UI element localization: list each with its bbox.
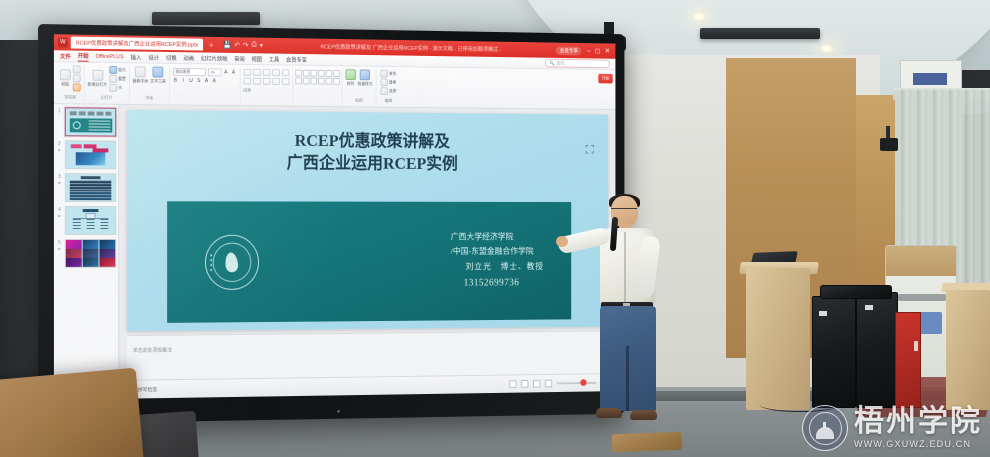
decrease-indent-icon[interactable]	[262, 69, 270, 76]
thumbnail-row[interactable]: 2■	[56, 140, 116, 169]
normal-view-icon[interactable]	[509, 380, 516, 388]
jeans-seam	[626, 346, 629, 411]
presenter-shoe	[596, 408, 622, 418]
select-button[interactable]: 选择	[381, 87, 397, 95]
new-tab-icon[interactable]: +	[206, 40, 216, 49]
shape-curve-icon[interactable]	[333, 70, 340, 77]
menu-item-animation[interactable]: 动画	[183, 54, 194, 62]
shape-freeform-icon[interactable]	[295, 77, 302, 84]
podium	[746, 268, 810, 410]
menu-item-tools[interactable]: 工具	[269, 55, 280, 63]
thumbnail-row[interactable]: 1	[56, 107, 116, 136]
font-size-input[interactable]: 18	[208, 68, 222, 76]
save-icon[interactable]: 💾	[223, 41, 231, 49]
spellcheck-indicator[interactable]: 拼写检查	[138, 386, 158, 393]
text-shadow-icon[interactable]: A	[204, 78, 210, 84]
align-center-icon[interactable]	[253, 78, 261, 85]
shape-banner-icon[interactable]	[318, 78, 325, 85]
format-painter-button[interactable]	[73, 83, 81, 91]
menu-item-member[interactable]: 会员专享	[286, 55, 307, 63]
seal-building-glyph	[816, 427, 834, 439]
slide-presenter-info: 广西大学经济学院 /中国-东盟金融合作学院 刘立光 博士、教授 13152699…	[451, 229, 544, 292]
menu-item-home[interactable]: 开始	[78, 51, 89, 61]
shape-arrow-icon[interactable]	[310, 70, 317, 77]
university-seal-icon: ★★★★	[205, 234, 259, 289]
slide-content-box[interactable]: ★★★★ 广西大学经济学院 /中国-东盟金融合作学院 刘立光 博士、教授	[167, 201, 571, 323]
numbering-icon[interactable]	[253, 69, 261, 76]
glasses-icon	[611, 208, 637, 212]
watermark-school-name: 梧州学院	[854, 407, 982, 437]
case-label	[865, 305, 873, 310]
presenter-name: 刘立光 博士、教授	[451, 259, 544, 274]
red-cabinet	[895, 312, 921, 408]
shape-triangle-icon[interactable]	[325, 70, 332, 77]
thumbnail-number: 1	[56, 107, 63, 114]
ac-top-panel	[886, 246, 956, 276]
ribbon-action-button[interactable]: 开始	[598, 74, 612, 84]
maximize-icon[interactable]: ◻	[595, 47, 600, 55]
quick-style-button[interactable]: 快速样式	[357, 69, 372, 87]
watermark-text: 梧州学院 WWW.GXUWZ.EDU.CN	[854, 407, 982, 449]
ribbon-group-fonttools: 替换字体 文字工具 字体	[130, 65, 170, 102]
print-icon[interactable]: ⎙	[251, 41, 256, 49]
document-tab[interactable]: RCEP优惠政策讲解及广西企业运用RCEP实例.pptx	[71, 37, 203, 51]
increase-font-icon[interactable]: A	[223, 70, 229, 76]
thumbnail-number: 3■	[56, 173, 63, 185]
slide-thumbnail-1[interactable]	[65, 107, 116, 136]
paste-button[interactable]: 粘贴	[60, 69, 71, 87]
font-color-icon[interactable]: A	[211, 78, 217, 84]
minimize-icon[interactable]: –	[587, 47, 591, 54]
current-slide[interactable]: RCEP优惠政策讲解及 广西企业运用RCEP实例 ★★★★	[127, 110, 608, 331]
line-spacing-icon[interactable]	[282, 69, 290, 76]
undo-icon[interactable]: ↶	[234, 41, 240, 49]
chair	[612, 432, 683, 452]
quick-access-toolbar: 💾 ↶ ↷ ⎙ ▾	[223, 41, 263, 49]
workarea: 1 2■	[54, 104, 615, 381]
font-name-input[interactable]: 微软雅黑	[173, 68, 206, 76]
new-slide-button[interactable]: 新建幻灯片	[88, 70, 108, 88]
align-left-icon[interactable]	[243, 78, 251, 85]
ceiling-speaker	[152, 12, 260, 25]
replace-font-button[interactable]: 替换字体	[133, 66, 149, 84]
seal-inner-ring	[809, 412, 842, 445]
search-placeholder: 查找	[556, 60, 564, 66]
shape-star-icon[interactable]	[310, 78, 317, 85]
wps-ribbon: 粘贴 剪贴板	[54, 62, 615, 110]
wall-display: W RCEP优惠政策讲解及广西企业运用RCEP实例.pptx + 💾 ↶ ↷ ⎙…	[38, 24, 624, 424]
replace-button[interactable]: 替换	[381, 78, 397, 86]
thumbnail-number: 5■	[56, 239, 63, 251]
ribbon-group-editing: 查找 替换 选择 编辑	[376, 69, 400, 105]
watermark-url: WWW.GXUWZ.EDU.CN	[854, 439, 982, 449]
ceiling-light	[820, 44, 834, 53]
shape-more-icon[interactable]	[333, 78, 340, 85]
reading-view-icon[interactable]	[533, 380, 540, 388]
redo-icon[interactable]: ↷	[243, 41, 249, 49]
seal-stars: ★★★★	[210, 252, 214, 272]
notes-pane[interactable]: 单击此处添加备注	[127, 330, 608, 379]
slide-thumbnail-5[interactable]	[65, 239, 116, 268]
menu-item-insert[interactable]: 插入	[131, 53, 142, 61]
thumbnail-row[interactable]: 5■	[56, 239, 116, 268]
group-label-clipboard: 剪贴板	[64, 94, 76, 100]
menu-item-officeplus[interactable]: OfficePLUS	[96, 53, 124, 59]
strikethrough-icon[interactable]: S	[196, 78, 202, 84]
thumbnail-number: 2■	[56, 140, 63, 152]
decrease-font-icon[interactable]: A	[231, 70, 237, 76]
slide-thumbnail-pane[interactable]: 1 2■	[54, 104, 119, 381]
chevron-down-icon[interactable]: ▾	[260, 42, 263, 50]
search-box[interactable]: 🔍 查找	[545, 59, 610, 69]
foreground-chair	[0, 368, 144, 457]
group-label-font: 字体	[145, 95, 153, 101]
member-badge[interactable]: 会员专享	[556, 46, 581, 55]
window-controls: – ◻ ✕	[587, 47, 612, 55]
seal-flame-glyph	[224, 251, 238, 272]
shape-oval-icon[interactable]	[318, 70, 325, 77]
shape-callout-icon[interactable]	[302, 77, 309, 84]
shape-flow-icon[interactable]	[325, 78, 332, 85]
bullets-icon[interactable]	[243, 69, 251, 76]
notes-placeholder: 单击此处添加备注	[133, 348, 172, 354]
slideshow-icon[interactable]	[545, 380, 552, 388]
window-title: RCEP优惠政策讲解及 广西企业运用RCEP实例 - 演示文稿 - 已停用加载项…	[266, 42, 553, 54]
close-icon[interactable]: ✕	[605, 47, 610, 55]
arrange-button[interactable]: 排列	[345, 69, 355, 87]
slide-title-line2: 广西企业运用RCEP实例	[127, 152, 608, 177]
thumbnail-row[interactable]: 4■	[56, 206, 116, 235]
group-label-paragraph: 段落	[243, 87, 289, 93]
text-tools-button[interactable]: 文字工具	[150, 67, 166, 85]
italic-icon[interactable]: I	[180, 78, 186, 84]
slide-title[interactable]: RCEP优惠政策讲解及 广西企业运用RCEP实例	[127, 129, 608, 177]
ribbon-group-slides: 新建幻灯片 版式 重置 节 幻灯片	[85, 65, 130, 102]
group-label-drawing: 绘图	[355, 98, 363, 104]
shirt-placket	[624, 232, 626, 302]
menu-item-view[interactable]: 视图	[252, 55, 263, 63]
increase-indent-icon[interactable]	[272, 69, 280, 76]
menu-item-transition[interactable]: 切换	[166, 53, 177, 61]
font-controls: 微软雅黑 18 A A B I U S A A	[170, 66, 241, 103]
slide-thumbnail-3[interactable]	[65, 173, 116, 202]
columns-icon[interactable]	[282, 78, 290, 85]
sorter-view-icon[interactable]	[521, 380, 528, 388]
security-camera-icon	[880, 138, 898, 151]
presenter	[586, 196, 678, 428]
group-label-editing: 编辑	[385, 98, 392, 104]
thumbnail-number: 4■	[56, 206, 63, 218]
wps-logo-icon: W	[58, 37, 68, 47]
wuzhou-university-seal-icon	[802, 405, 848, 451]
shapes-gallery[interactable]	[293, 68, 342, 105]
cabinet-handle	[914, 341, 918, 351]
seal-inner-ring	[212, 242, 251, 281]
org-line-2: /中国-东盟金融合作学院	[451, 244, 544, 259]
slide-editor-pane: RCEP优惠政策讲解及 广西企业运用RCEP实例 ★★★★	[119, 105, 615, 380]
presenter-hand	[556, 236, 568, 247]
equipment-case	[856, 292, 898, 408]
door-sign	[913, 73, 947, 85]
section-button[interactable]: 节	[109, 84, 125, 92]
shape-rect-icon[interactable]	[295, 70, 302, 77]
ac-vent	[898, 294, 946, 301]
org-line-1: 广西大学经济学院	[451, 229, 544, 244]
selection-handle[interactable]	[586, 145, 594, 154]
group-label-slides: 幻灯片	[101, 95, 113, 101]
display-bezel: W RCEP优惠政策讲解及广西企业运用RCEP实例.pptx + 💾 ↶ ↷ ⎙…	[38, 24, 624, 424]
equipment-case	[812, 296, 856, 408]
menu-item-slideshow[interactable]: 幻灯片放映	[201, 54, 228, 62]
menu-item-design[interactable]: 设计	[148, 53, 159, 61]
ribbon-group-clipboard: 粘贴 剪贴板	[57, 64, 85, 101]
justify-icon[interactable]	[272, 78, 280, 85]
ribbon-group-drawing: 排列 快速样式 绘图	[342, 68, 376, 104]
display-screen[interactable]: W RCEP优惠政策讲解及广西企业运用RCEP实例.pptx + 💾 ↶ ↷ ⎙…	[54, 34, 615, 399]
search-icon: 🔍	[549, 60, 554, 66]
watermark: 梧州学院 WWW.GXUWZ.EDU.CN	[802, 405, 982, 451]
cut-button[interactable]	[73, 65, 81, 73]
thumbnail-row[interactable]: 3■	[56, 173, 116, 202]
ribbon-tail: 开始	[598, 72, 612, 107]
menu-item-review[interactable]: 审阅	[234, 54, 245, 62]
case-label	[819, 311, 827, 316]
bold-icon[interactable]: B	[173, 78, 179, 84]
side-podium	[946, 290, 990, 410]
underline-icon[interactable]: U	[188, 78, 194, 84]
photo-scene: W RCEP优惠政策讲解及广西企业运用RCEP实例.pptx + 💾 ↶ ↷ ⎙…	[0, 0, 990, 457]
slide-title-line1: RCEP优惠政策讲解及	[295, 131, 450, 151]
presenter-shoe	[630, 410, 657, 420]
presenter-phone: 13152699736	[451, 274, 544, 292]
menu-item-file[interactable]: 文件	[60, 52, 71, 60]
slide-thumbnail-4[interactable]	[65, 206, 116, 235]
display-brand-logo: ●	[337, 409, 341, 415]
paragraph-controls: 段落	[240, 67, 293, 104]
shape-line-icon[interactable]	[302, 70, 309, 77]
copy-button[interactable]	[73, 74, 81, 82]
ceiling-speaker	[700, 28, 820, 39]
layout-button[interactable]: 版式	[109, 66, 125, 74]
ceiling-light	[692, 12, 706, 21]
equipment-case-top	[820, 285, 892, 299]
slide-thumbnail-2[interactable]	[65, 140, 116, 169]
reset-button[interactable]: 重置	[109, 75, 125, 83]
find-button[interactable]: 查找	[381, 70, 397, 78]
align-right-icon[interactable]	[262, 78, 270, 85]
